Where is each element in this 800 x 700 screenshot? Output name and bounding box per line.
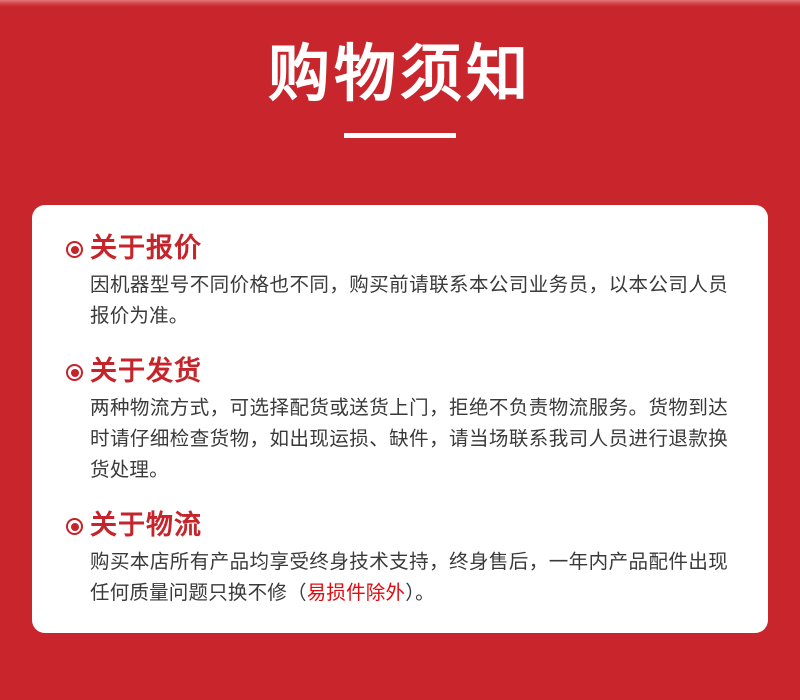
page-title: 购物须知	[268, 42, 532, 107]
section-logistics-body-highlight: 易损件除外	[307, 582, 406, 604]
section-logistics-body: 购买本店所有产品均享受终身技术支持，终身售后，一年内产品配件出现任何质量问题只换…	[66, 547, 734, 609]
section-quotation: 关于报价 因机器型号不同价格也不同，购买前请联系本公司业务员，以本公司人员报价为…	[66, 233, 734, 332]
section-spacer	[66, 492, 734, 510]
section-quotation-header: 关于报价	[66, 233, 734, 264]
section-quotation-title: 关于报价	[90, 233, 202, 264]
section-logistics: 关于物流 购买本店所有产品均享受终身技术支持，终身售后，一年内产品配件出现任何质…	[66, 510, 734, 609]
section-logistics-title: 关于物流	[90, 510, 202, 541]
section-shipping-header: 关于发货	[66, 356, 734, 387]
section-spacer	[66, 338, 734, 356]
section-shipping: 关于发货 两种物流方式，可选择配货或送货上门，拒绝不负责物流服务。货物到达时请仔…	[66, 356, 734, 486]
section-logistics-header: 关于物流	[66, 510, 734, 541]
banner-header: 购物须知	[0, 0, 800, 205]
section-logistics-body-after: ）。	[405, 582, 435, 604]
title-divider-rule	[344, 133, 456, 138]
section-shipping-body: 两种物流方式，可选择配货或送货上门，拒绝不负责物流服务。货物到达时请仔细检查货物…	[66, 393, 734, 486]
circle-dot-icon	[66, 518, 83, 535]
circle-dot-icon	[66, 241, 83, 258]
circle-dot-icon	[66, 364, 83, 381]
section-shipping-title: 关于发货	[90, 356, 202, 387]
notice-card: 关于报价 因机器型号不同价格也不同，购买前请联系本公司业务员，以本公司人员报价为…	[32, 205, 768, 633]
section-quotation-body: 因机器型号不同价格也不同，购买前请联系本公司业务员，以本公司人员报价为准。	[66, 270, 734, 332]
